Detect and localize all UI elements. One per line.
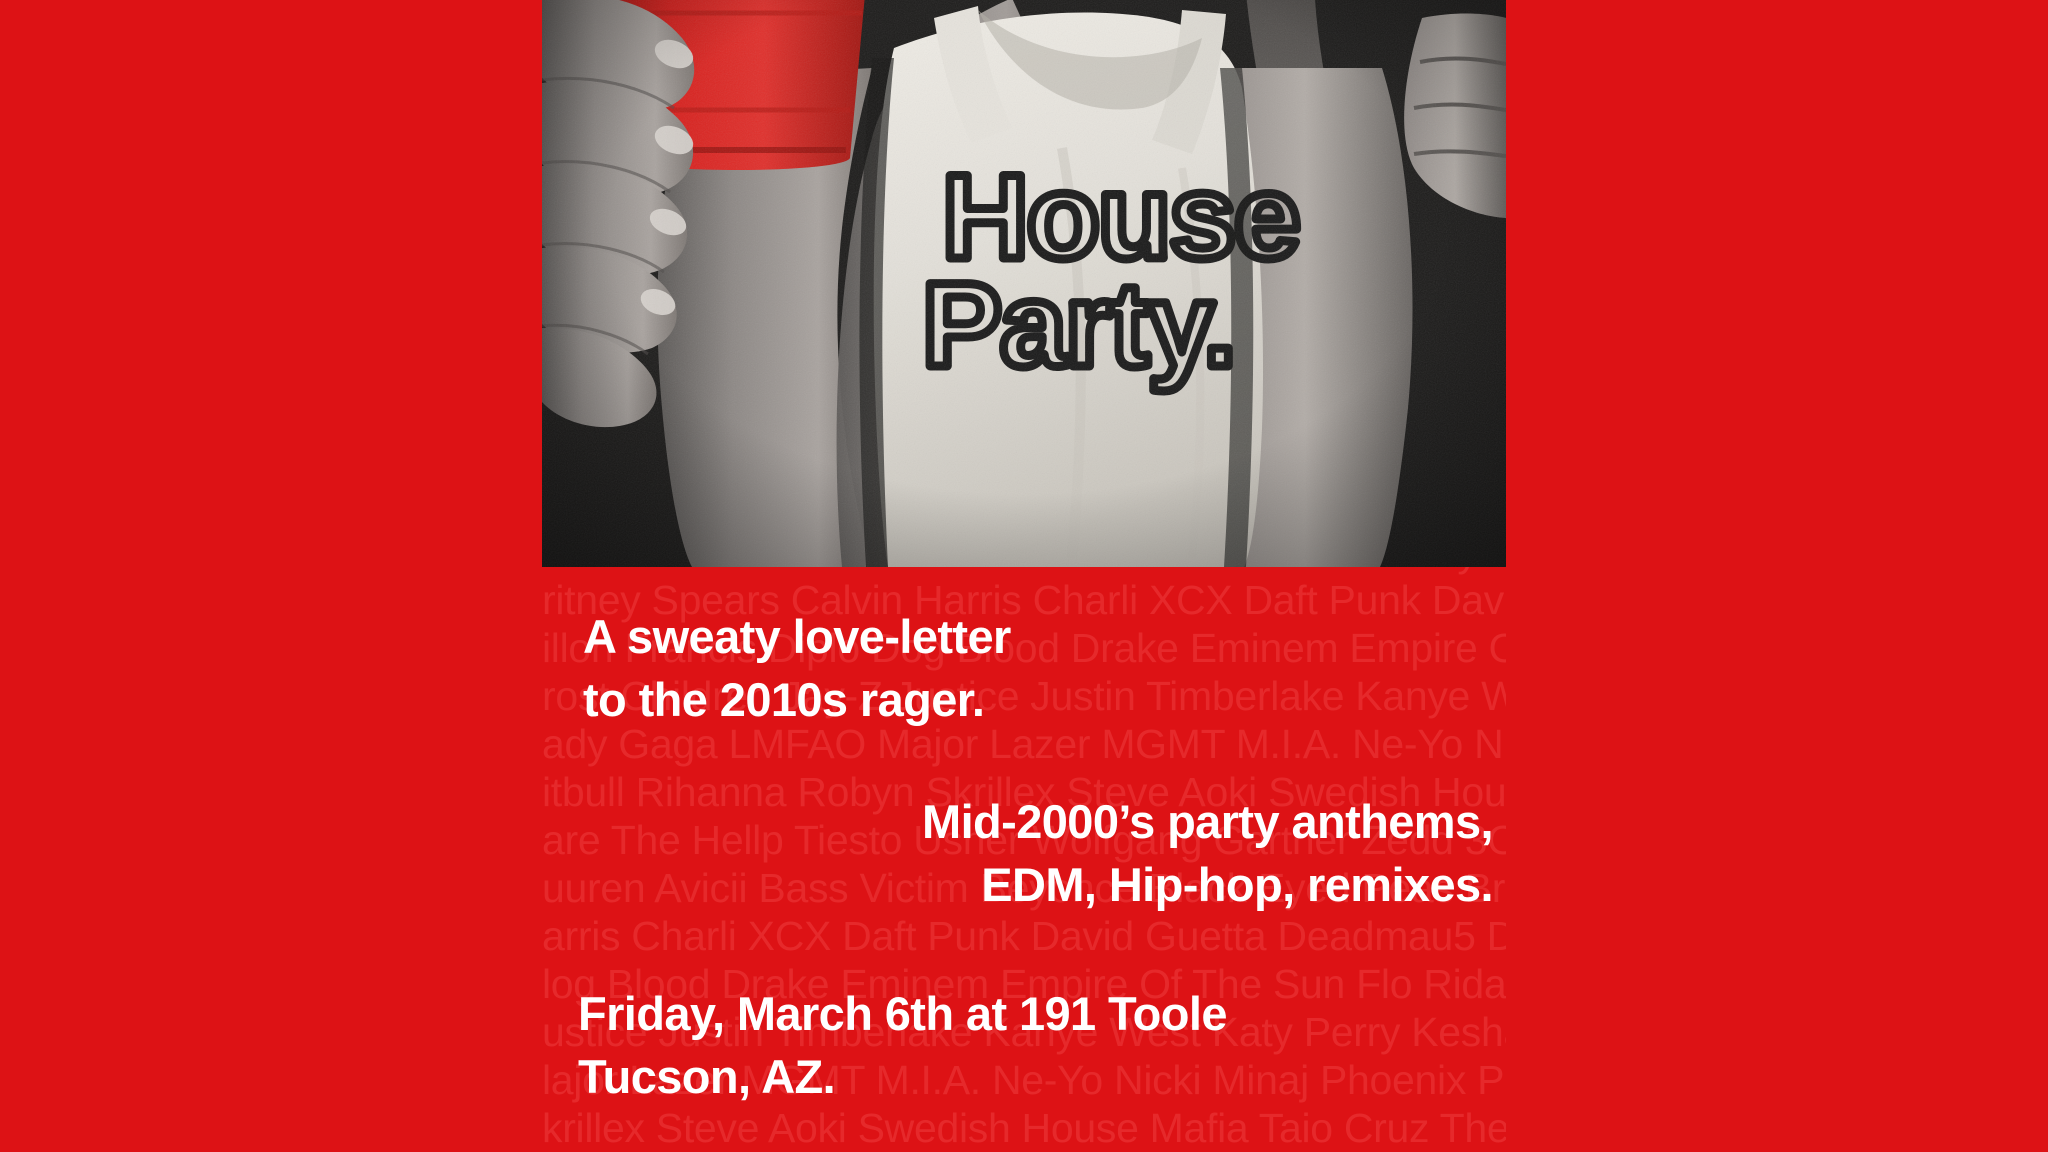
tagline-text: A sweaty love-letter to the 2010s rager. bbox=[583, 605, 1011, 731]
artist-wall-row: krillex Steve Aoki Swedish House Mafia T… bbox=[542, 1104, 1506, 1152]
artist-wall-row: arris Charli XCX Daft Punk David Guetta … bbox=[542, 912, 1506, 960]
house-party-photo: House Party. bbox=[542, 0, 1506, 567]
artist-wall-row: OH!3 Akon Armin Van Buuren Avicii Bass V… bbox=[542, 567, 1506, 576]
event-poster: OH!3 Akon Armin Van Buuren Avicii Bass V… bbox=[0, 0, 2048, 1152]
event-details-text: Friday, March 6th at 191 Toole Tucson, A… bbox=[578, 982, 1227, 1108]
genres-text: Mid-2000’s party anthems, EDM, Hip-hop, … bbox=[583, 790, 1493, 916]
